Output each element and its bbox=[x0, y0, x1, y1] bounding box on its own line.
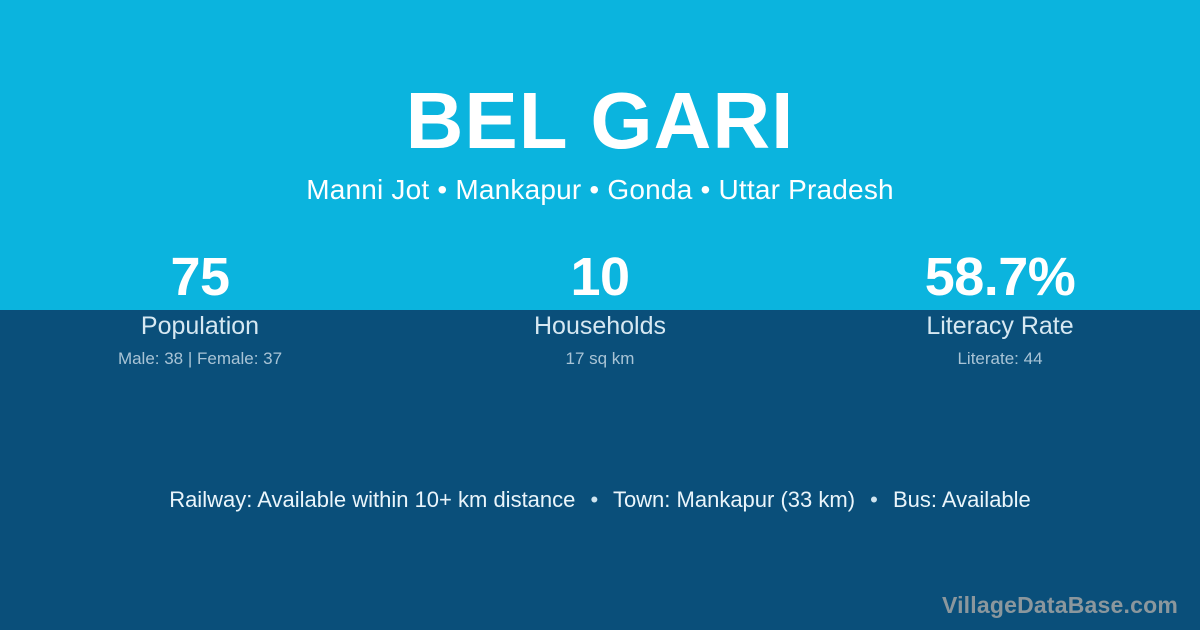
amenity-bus: Bus: Available bbox=[893, 487, 1031, 512]
card-header: BEL GARI Manni Jot • Mankapur • Gonda • … bbox=[0, 0, 1200, 207]
amenities-line: Railway: Available within 10+ km distanc… bbox=[0, 486, 1200, 514]
stat-literacy-rate: 58.7% Literacy Rate Literate: 44 bbox=[800, 246, 1200, 370]
stat-households: 10 Households 17 sq km bbox=[400, 246, 800, 370]
stat-label-literacy-rate: Literacy Rate bbox=[800, 311, 1200, 341]
village-info-card: BEL GARI Manni Jot • Mankapur • Gonda • … bbox=[0, 0, 1200, 630]
stat-sub-population: Male: 38 | Female: 37 bbox=[0, 348, 400, 370]
stat-sub-households: 17 sq km bbox=[400, 348, 800, 370]
stat-value-population: 75 bbox=[0, 246, 400, 308]
site-watermark: VillageDataBase.com bbox=[942, 591, 1178, 619]
amenity-separator-1: • bbox=[582, 487, 608, 512]
stat-sub-literacy-rate: Literate: 44 bbox=[800, 348, 1200, 370]
stats-row: 75 Population Male: 38 | Female: 37 10 H… bbox=[0, 246, 1200, 370]
page-title: BEL GARI bbox=[0, 0, 1200, 164]
breadcrumb: Manni Jot • Mankapur • Gonda • Uttar Pra… bbox=[0, 164, 1200, 207]
amenity-separator-2: • bbox=[861, 487, 887, 512]
stat-population: 75 Population Male: 38 | Female: 37 bbox=[0, 246, 400, 370]
stat-value-households: 10 bbox=[400, 246, 800, 308]
stat-label-households: Households bbox=[400, 311, 800, 341]
stat-value-literacy-rate: 58.7% bbox=[800, 246, 1200, 308]
stat-label-population: Population bbox=[0, 311, 400, 341]
amenity-railway: Railway: Available within 10+ km distanc… bbox=[169, 487, 575, 512]
amenity-town: Town: Mankapur (33 km) bbox=[613, 487, 855, 512]
